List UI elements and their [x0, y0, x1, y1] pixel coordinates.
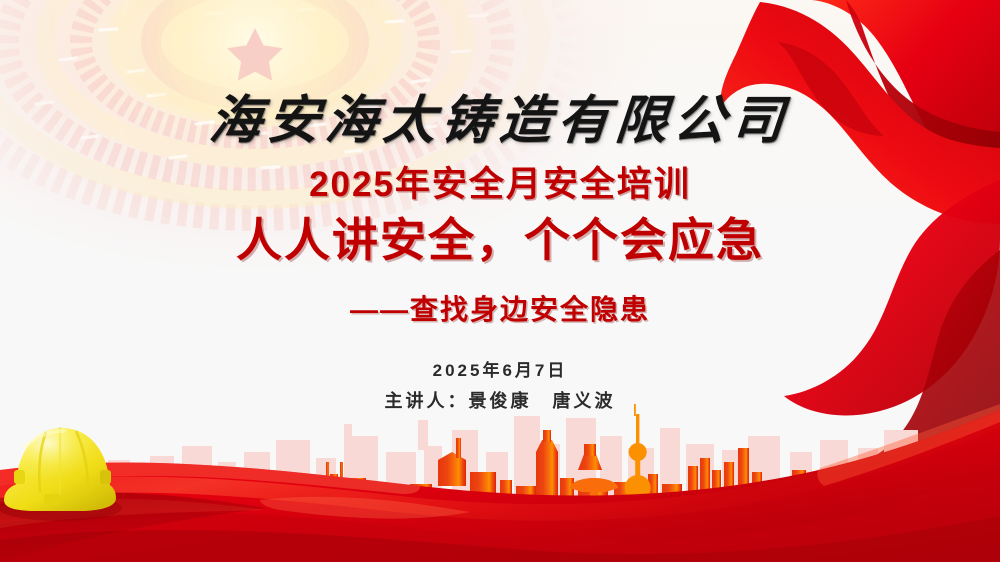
date-line: 2025年6月7日: [0, 356, 1000, 381]
presentation-slide: 海安海太铸造有限公司 2025年安全月安全培训 人人讲安全，个个会应急 ——查找…: [0, 0, 1000, 562]
tagline: ——查找身边安全隐患: [0, 288, 1000, 328]
presenter-line: 主讲人：景俊康 唐义波: [0, 387, 1000, 413]
headline-slogan: 人人讲安全，个个会应急: [0, 204, 1000, 270]
slide-text-block: 海安海太铸造有限公司 2025年安全月安全培训 人人讲安全，个个会应急 ——查找…: [0, 0, 1000, 562]
company-title: 海安海太铸造有限公司: [0, 78, 1000, 153]
subtitle-line: 2025年安全月安全培训: [0, 156, 1000, 207]
